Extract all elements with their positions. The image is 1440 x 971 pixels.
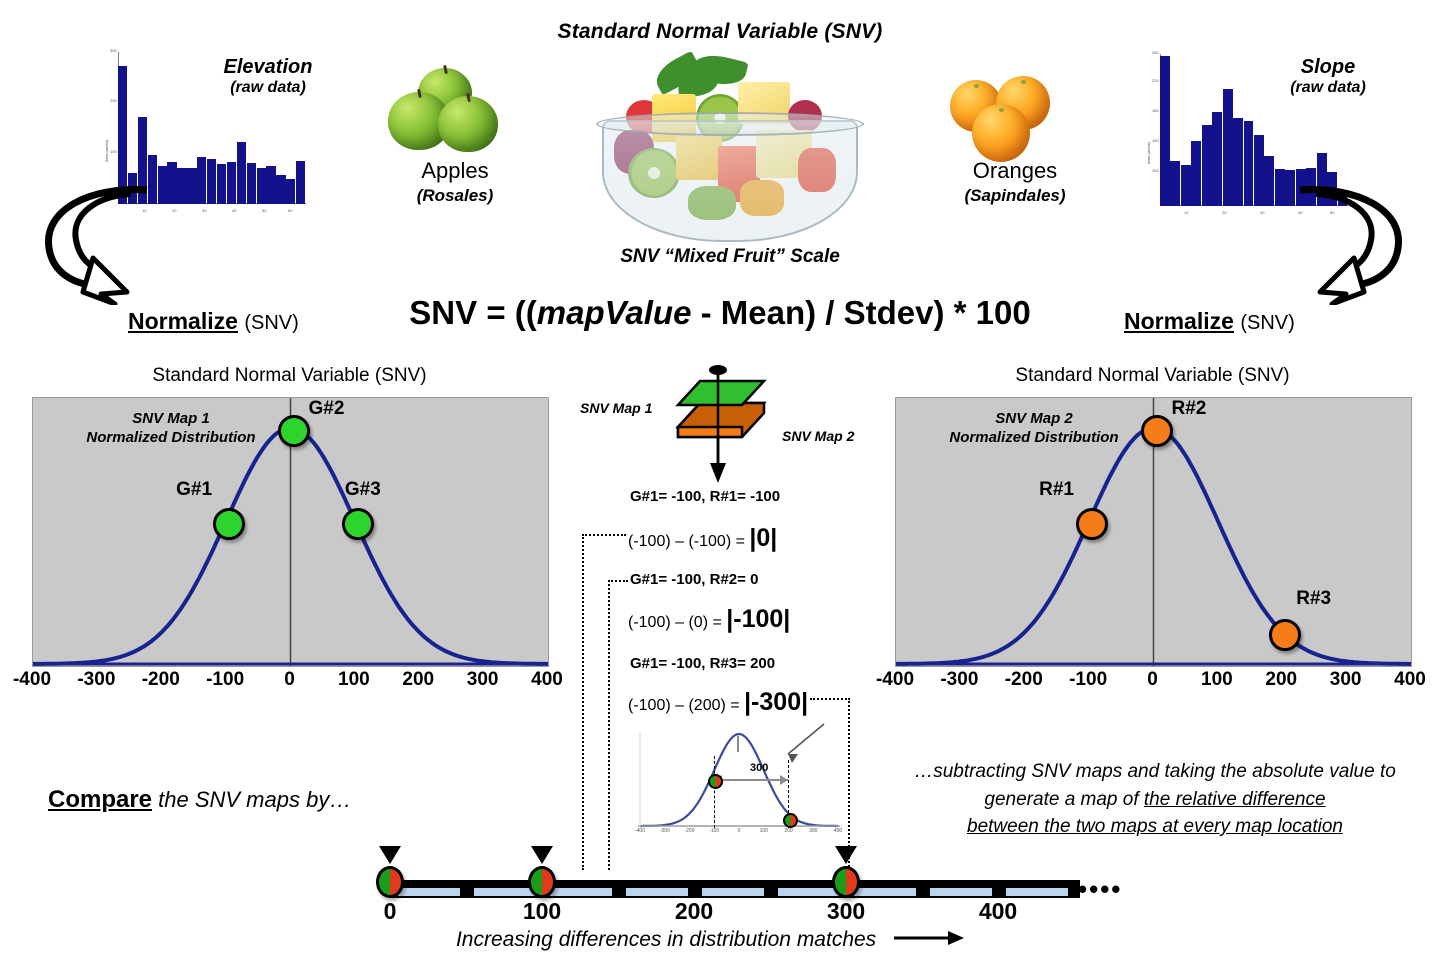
histogram-bar [286, 179, 295, 204]
map-layer-stack [672, 365, 802, 485]
axis-tick-label: 400 [517, 669, 577, 691]
subtract-underline2: between the two maps at every map locati… [967, 816, 1343, 837]
histogram-bar [1233, 118, 1243, 206]
inset-axis-tick: -200 [681, 828, 699, 834]
scale-number: 400 [958, 898, 1038, 925]
snv-map2-chart: Standard Normal Variable (SNV) SNV Map 2… [885, 365, 1420, 710]
inset-axis-tick: 0 [730, 828, 748, 834]
calc-0-head: G#1= -100, R#1= -100 [630, 488, 780, 505]
difference-scale-bar[interactable] [390, 880, 1080, 898]
data-point-label: G#1 [176, 479, 212, 501]
normalize-arrow-right-icon [1282, 180, 1412, 305]
axis-tick-label: -300 [929, 669, 989, 691]
compare-caption: Compare the SNV maps by… [48, 786, 351, 814]
histogram-bar [227, 162, 236, 204]
histogram-bar [1223, 89, 1233, 207]
histogram-bar [237, 142, 246, 204]
axis-tick-label: 400 [1380, 669, 1440, 691]
normalize-right-paren: (SNV) [1240, 312, 1294, 334]
scale-number: 200 [654, 898, 734, 925]
snv-map1-note-line2: Normalized Distribution [61, 429, 281, 448]
histogram-bar [1170, 161, 1180, 206]
histogram-bar [1244, 121, 1254, 206]
histogram-bar [1264, 156, 1274, 206]
normalize-left-paren: (SNV) [244, 312, 298, 334]
calc-0-result: |0| [749, 524, 777, 552]
axis-tick-label: -200 [131, 669, 191, 691]
snv-formula: SNV = ((mapValue - Mean) / Stdev) * 100 [360, 294, 1080, 332]
elevation-title: Elevation [168, 56, 368, 79]
normalize-left-main: Normalize [128, 308, 238, 334]
scale-number: 100 [502, 898, 582, 925]
slope-subtitle: (raw data) [1238, 79, 1418, 97]
normalize-right: Normalize (SNV) [1124, 308, 1295, 335]
scale-number: 0 [350, 898, 430, 925]
apples-graphic: Apples (Rosales) [380, 62, 530, 212]
leader-1-h [608, 580, 628, 582]
histogram-bar [217, 164, 226, 204]
inset-axis-tick: -100 [705, 828, 723, 834]
inset-point-g1 [708, 774, 723, 789]
formula-suffix: - Mean) / Stdev) * 100 [691, 294, 1030, 331]
marker-pointer-icon [531, 846, 553, 864]
calc-0-line: (-100) – (-100) = |0| [628, 524, 777, 553]
snv-map1-layer-label: SNV Map 1 [580, 400, 652, 416]
axis-tick-label: -200 [994, 669, 1054, 691]
calc-2-head: G#1= -100, R#3= 200 [630, 655, 775, 672]
calc-2-result: |-300| [744, 688, 808, 716]
axis-tick-label: 100 [1187, 669, 1247, 691]
histogram-bar [197, 157, 206, 204]
scale-tail-dots: •••• [1078, 874, 1122, 905]
scale-number: 300 [806, 898, 886, 925]
subtract-description: …subtracting SNV maps and taking the abs… [905, 758, 1405, 841]
mixed-fruit-caption: SNV “Mixed Fruit” Scale [540, 246, 920, 268]
calc-1-result: |-100| [726, 605, 790, 633]
histogram-bar [1160, 56, 1170, 206]
elevation-ylabel: Area (acres) [104, 140, 109, 162]
compare-rest: the SNV maps by… [152, 787, 351, 812]
calc-1-head: G#1= -100, R#2= 0 [630, 571, 758, 588]
histogram-bar [1254, 135, 1264, 206]
marker-pointer-icon [835, 846, 857, 864]
inset-axis-tick: 100 [755, 828, 773, 834]
normalize-arrow-left-icon [35, 180, 165, 305]
inset-axis-tick: -300 [656, 828, 674, 834]
calc-2-expr: (-100) – (200) = [628, 697, 744, 714]
normalize-left: Normalize (SNV) [128, 308, 299, 335]
inset-axis-tick: -400 [631, 828, 649, 834]
calc-0-expr: (-100) – (-100) = [628, 533, 749, 550]
increasing-text: Increasing differences in distribution m… [456, 928, 876, 951]
histogram-bar [187, 168, 196, 204]
calc-1-line: (-100) – (0) = |-100| [628, 605, 790, 634]
oranges-label: Oranges [940, 158, 1090, 184]
data-point-label: R#1 [1039, 479, 1074, 501]
inset-axis-tick: 400 [829, 828, 847, 834]
histogram-bar [1181, 165, 1191, 206]
data-point-label: G#2 [309, 398, 345, 420]
compare-bold: Compare [48, 786, 152, 813]
snv-map2-layer-label: SNV Map 2 [782, 428, 854, 444]
formula-prefix: SNV = (( [409, 294, 536, 331]
snv-map2-note-line2: Normalized Distribution [924, 429, 1144, 448]
histogram-bar [276, 175, 285, 204]
inset-measure-label: 300 [750, 762, 768, 774]
data-point-g1[interactable] [213, 508, 245, 540]
axis-tick-label: -300 [66, 669, 126, 691]
scale-marker[interactable] [376, 866, 404, 898]
histogram-bar [257, 168, 266, 204]
histogram-bar [1212, 112, 1222, 206]
slope-ylabel: Area (acres) [1146, 142, 1151, 164]
axis-tick-label: -100 [195, 669, 255, 691]
axis-tick-label: 300 [453, 669, 513, 691]
histogram-bar [1191, 141, 1201, 206]
leader-2-h [810, 698, 850, 700]
inset-axis-tick: 300 [804, 828, 822, 834]
axis-tick-label: -400 [2, 669, 62, 691]
histogram-bar [1202, 125, 1212, 206]
snv-map2-note-line1: SNV Map 2 [924, 410, 1144, 429]
snv-map2-plot-area: SNV Map 2 Normalized Distribution R#1R#2… [895, 397, 1412, 667]
histogram-bar [266, 166, 275, 205]
right-arrow-icon [894, 928, 964, 952]
axis-tick-label: 0 [260, 669, 320, 691]
leader-2-v [848, 698, 850, 870]
data-point-r2[interactable] [1141, 415, 1173, 447]
difference-inset-chart: 300 -400-300-200-1000100200300400 [628, 718, 846, 850]
normalize-right-main: Normalize [1124, 308, 1234, 334]
axis-tick-label: 300 [1316, 669, 1376, 691]
calc-2-line: (-100) – (200) = |-300| [628, 688, 808, 717]
page-title: Standard Normal Variable (SNV) [0, 20, 1440, 44]
data-point-g2[interactable] [278, 415, 310, 447]
apples-label: Apples [380, 158, 530, 184]
axis-tick-label: -100 [1058, 669, 1118, 691]
data-point-g3[interactable] [342, 508, 374, 540]
data-point-label: R#3 [1296, 588, 1331, 610]
axis-tick-label: 100 [324, 669, 384, 691]
histogram-bar [177, 168, 186, 204]
inset-axis-tick: 200 [780, 828, 798, 834]
marker-pointer-icon [379, 846, 401, 864]
snv-map1-chart: Standard Normal Variable (SNV) SNV Map 1… [22, 365, 557, 710]
leader-1-v [608, 580, 610, 870]
axis-tick-label: 200 [1251, 669, 1311, 691]
axis-tick-label: 0 [1123, 669, 1183, 691]
axis-tick-label: -400 [865, 669, 925, 691]
data-point-r1[interactable] [1076, 508, 1108, 540]
leader-0-h [582, 534, 626, 536]
histogram-bar [207, 159, 216, 204]
axis-tick-label: 200 [388, 669, 448, 691]
elevation-subtitle: (raw data) [168, 79, 368, 97]
slope-title: Slope [1238, 56, 1418, 79]
histogram-bar [296, 161, 305, 204]
mixed-fruit-bowl-image [592, 52, 864, 242]
apples-sublabel: (Rosales) [380, 186, 530, 206]
snv-map1-plot-area: SNV Map 1 Normalized Distribution G#1G#2… [32, 397, 549, 667]
oranges-sublabel: (Sapindales) [940, 186, 1090, 206]
histogram-bar [167, 162, 176, 204]
histogram-bar [247, 163, 256, 204]
snv-map1-note-line1: SNV Map 1 [61, 410, 281, 429]
subtract-underline1: the relative difference [1144, 789, 1326, 810]
calc-1-expr: (-100) – (0) = [628, 614, 726, 631]
inset-point-r3 [783, 813, 798, 828]
data-point-label: R#2 [1172, 398, 1207, 420]
scale-marker[interactable] [832, 866, 860, 898]
scale-marker[interactable] [528, 866, 556, 898]
snv-map1-title: Standard Normal Variable (SNV) [22, 365, 557, 387]
snv-map2-title: Standard Normal Variable (SNV) [885, 365, 1420, 387]
data-point-label: G#3 [345, 479, 381, 501]
increasing-differences-caption: Increasing differences in distribution m… [380, 928, 1040, 952]
leader-0-v [582, 534, 584, 870]
formula-mapvalue: mapValue [537, 294, 692, 331]
oranges-graphic: Oranges (Sapindales) [940, 62, 1090, 212]
